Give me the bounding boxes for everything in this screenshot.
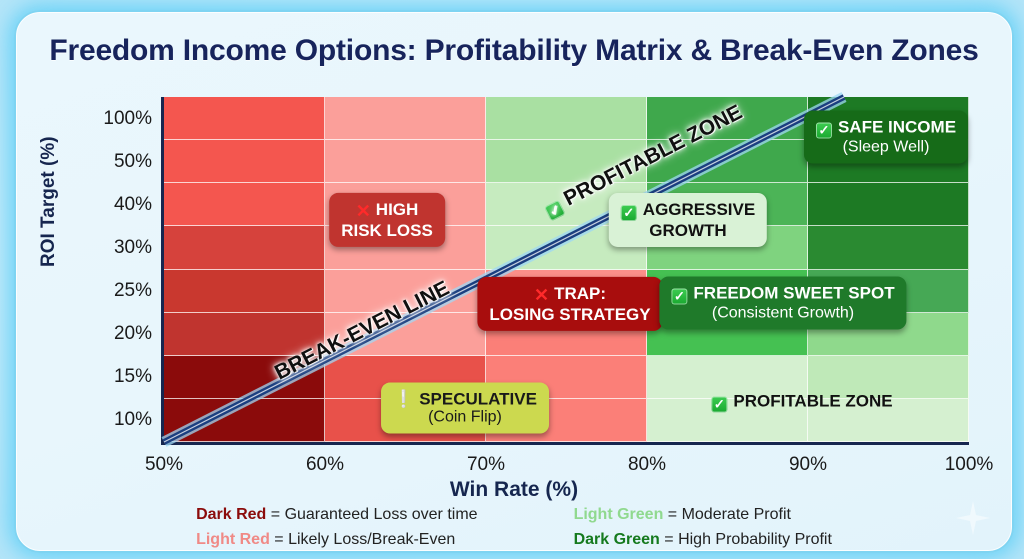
check-icon: ✓ [621,205,637,221]
legend-desc-light-green: = Moderate Profit [663,506,791,523]
annotation-sweet-spot-line2: (Consistent Growth) [671,305,894,323]
heatmap-cell [325,97,486,140]
y-axis-title: ROI Target (%) [38,136,60,267]
x-icon: ✕ [534,285,549,305]
legend-column-right: Light Green = Moderate Profit Dark Green… [574,506,832,549]
legend-term-light-green: Light Green [574,506,664,523]
annotation-speculative-line1: ❕SPECULATIVE [393,390,537,409]
annotation-safe-income-line1: ✓SAFE INCOME [816,118,956,139]
annotation-aggressive-line1: ✓AGGRESSIVE [621,200,755,221]
legend-desc-dark-green: = High Probability Profit [660,531,832,548]
check-icon: ✓ [711,397,727,413]
x-tick-label: 100% [945,454,994,476]
annotation-high-risk-loss[interactable]: ✕HIGH RISK LOSS [329,193,445,247]
annotation-safe-income[interactable]: ✓SAFE INCOME (Sleep Well) [804,111,968,164]
annotation-high-risk-loss-line2: RISK LOSS [341,221,433,240]
check-icon: ✓ [671,289,687,305]
heatmap-plot: 100%50%40%30%25%20%15%10% 50%60%70%80%90… [161,97,969,445]
y-tick-label: 40% [114,194,152,216]
x-tick-label: 90% [789,454,827,476]
heatmap-cell [164,270,325,313]
x-tick-label: 80% [628,454,666,476]
annotation-trap-line1: ✕TRAP: [489,284,650,305]
y-tick-label: 15% [114,366,152,388]
y-tick-label: 100% [103,108,152,130]
annotation-profitable-zone-line1: ✓PROFITABLE ZONE [711,392,892,413]
chart-card: Freedom Income Options: Profitability Ma… [14,10,1014,553]
heatmap-cell [164,183,325,226]
heatmap-cell [164,140,325,183]
heatmap-cell [164,226,325,269]
annotation-trap-line2: LOSING STRATEGY [489,305,650,324]
heatmap-cell [164,97,325,140]
annotation-aggressive-growth[interactable]: ✓AGGRESSIVE GROWTH [609,193,767,247]
legend-column-left: Dark Red = Guaranteed Loss over time Lig… [196,506,477,549]
y-tick-label: 50% [114,151,152,173]
legend-item-dark-green: Dark Green = High Probability Profit [574,531,832,549]
page-title: Freedom Income Options: Profitability Ma… [16,34,1012,68]
legend-item-light-green: Light Green = Moderate Profit [574,506,832,524]
x-axis-title: Win Rate (%) [16,478,1012,502]
annotation-profitable-zone[interactable]: ✓PROFITABLE ZONE [711,392,892,413]
y-tick-label: 20% [114,323,152,345]
check-icon: ✓ [816,123,832,139]
legend-item-light-red: Light Red = Likely Loss/Break-Even [196,531,477,549]
annotation-speculative[interactable]: ❕SPECULATIVE (Coin Flip) [381,383,549,434]
annotation-aggressive-line2: GROWTH [621,221,755,240]
legend-term-dark-red: Dark Red [196,506,266,523]
heatmap-cell [325,140,486,183]
x-tick-label: 50% [145,454,183,476]
legend-desc-light-red: = Likely Loss/Break-Even [270,531,455,548]
heatmap-cell [808,183,969,226]
legend-term-light-red: Light Red [196,531,270,548]
legend-desc-dark-red: = Guaranteed Loss over time [266,506,477,523]
annotation-sweet-spot-line1: ✓FREEDOM SWEET SPOT [671,284,894,305]
y-tick-label: 25% [114,280,152,302]
warning-icon: ❕ [393,390,414,409]
y-tick-label: 10% [114,409,152,431]
annotation-freedom-sweet-spot[interactable]: ✓FREEDOM SWEET SPOT (Consistent Growth) [659,277,906,330]
annotation-speculative-line2: (Coin Flip) [393,409,537,427]
x-tick-label: 70% [467,454,505,476]
x-icon: ✕ [356,201,371,221]
heatmap-cell [164,399,325,442]
y-tick-label: 30% [114,237,152,259]
legend-item-dark-red: Dark Red = Guaranteed Loss over time [196,506,477,524]
sparkle-icon [956,501,990,535]
annotation-safe-income-line2: (Sleep Well) [816,139,956,157]
annotation-trap-losing-strategy[interactable]: ✕TRAP: LOSING STRATEGY [477,277,662,331]
x-tick-label: 60% [306,454,344,476]
heatmap-cell [808,226,969,269]
legend-term-dark-green: Dark Green [574,531,660,548]
legend: Dark Red = Guaranteed Loss over time Lig… [16,506,1012,549]
annotation-high-risk-loss-line1: ✕HIGH [341,200,433,221]
heatmap-cell [486,97,647,140]
